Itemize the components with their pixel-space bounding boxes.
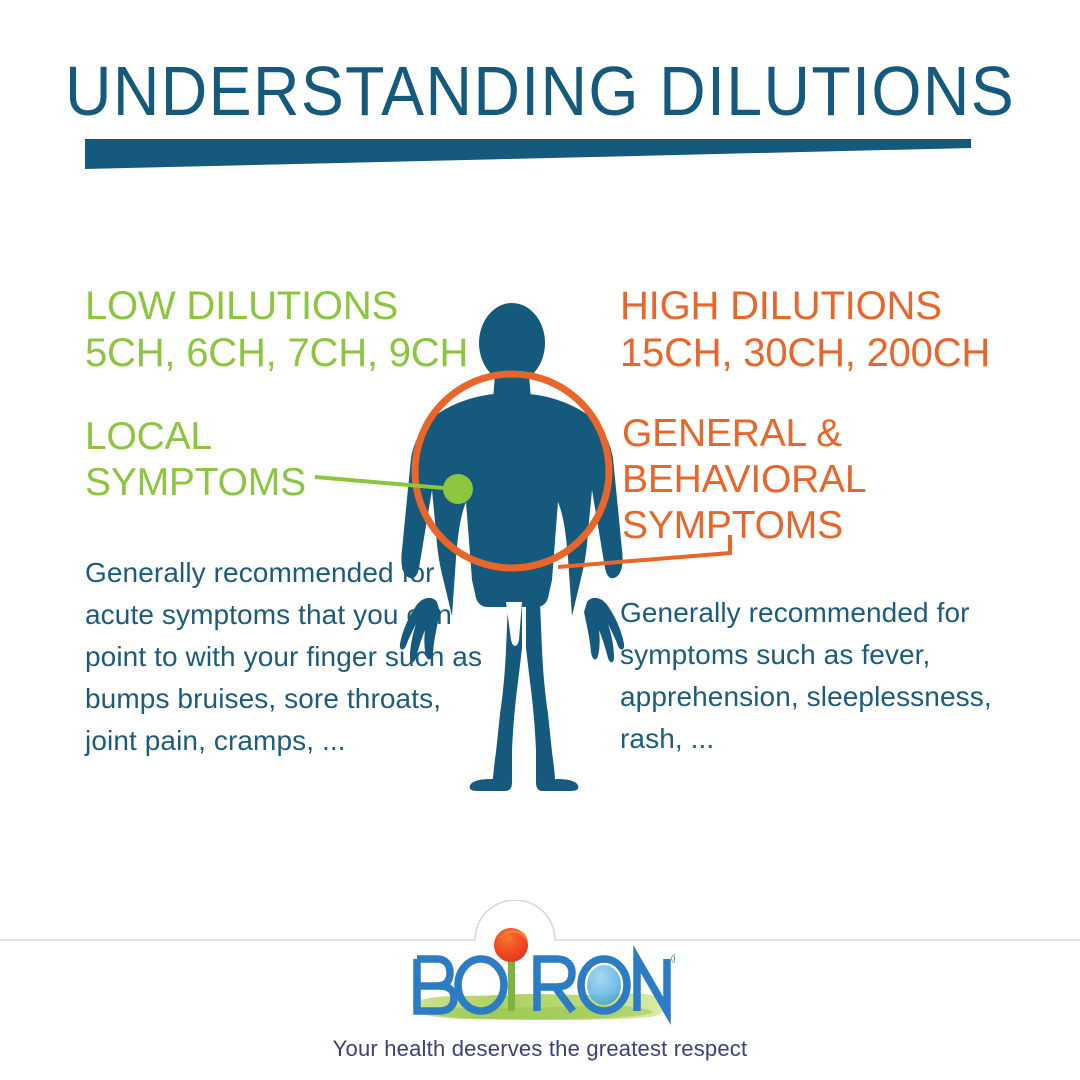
title-underline-wedge <box>85 137 971 171</box>
body-diagram <box>300 300 780 820</box>
infographic-page: { "header": { "title": "UNDERSTANDING DI… <box>0 0 1080 1080</box>
page-title: UNDERSTANDING DILUTIONS <box>43 52 1037 130</box>
elbow-marker-dot <box>443 474 473 504</box>
logo-o-watercolor <box>587 965 621 1005</box>
boiron-logo[interactable]: ® <box>405 925 675 1030</box>
registered-trademark-icon: ® <box>671 951 675 966</box>
brand-tagline: Your health deserves the greatest respec… <box>0 1036 1080 1062</box>
local-symptoms-label: LOCAL SYMPTOMS <box>85 414 306 506</box>
logo-flower-icon <box>494 928 528 962</box>
